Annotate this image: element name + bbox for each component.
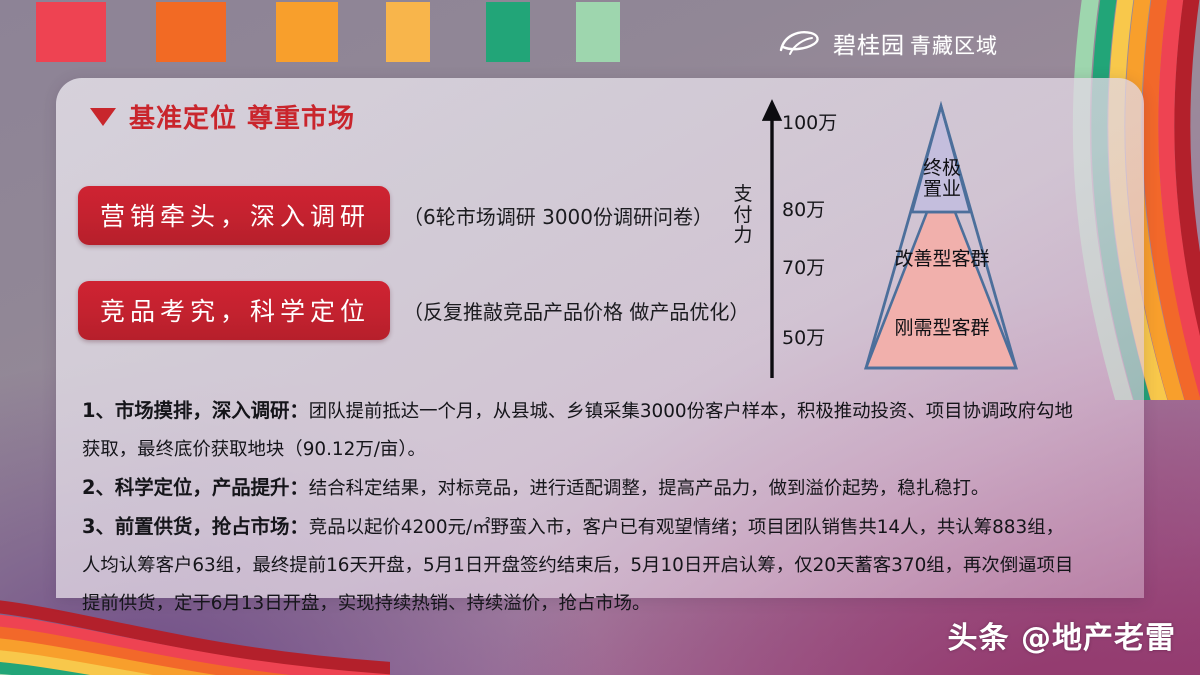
swoosh-logo-icon bbox=[778, 28, 824, 58]
swatch-yellow bbox=[386, 2, 430, 62]
watermark: 头条 @地产老雷 bbox=[948, 613, 1176, 657]
payment-capacity-pyramid-chart: 支付力 100万 80万 70万 50万 终极 置业 改善型客群 刚需型客群 bbox=[716, 96, 1026, 381]
brand-logo: 碧桂园青藏区域 bbox=[778, 26, 998, 60]
down-triangle-icon bbox=[90, 108, 116, 126]
callout-row-1: 营销牵头，深入调研 （6轮市场调研 3000份调研问卷） bbox=[78, 186, 713, 245]
y-tick-80: 80万 bbox=[782, 195, 825, 222]
brand-region: 青藏区域 bbox=[910, 34, 998, 58]
body-paragraph-2: 2、科学定位，产品提升：结合科定结果，对标竞品，进行适配调整，提高产品力，做到溢… bbox=[82, 469, 1082, 508]
page-title: 基准定位 尊重市场 bbox=[90, 98, 355, 135]
pyramid-tier-label-top: 终极 置业 bbox=[902, 158, 982, 201]
callout-pill-2: 竞品考究，科学定位 bbox=[78, 281, 390, 340]
body-paragraph-2-text: 结合科定结果，对标竞品，进行适配调整，提高产品力，做到溢价起势，稳扎稳打。 bbox=[309, 478, 989, 499]
body-text-block: 1、市场摸排，深入调研：团队提前抵达一个月，从县城、乡镇采集3000份客户样本，… bbox=[82, 392, 1082, 623]
brand-logo-text: 碧桂园青藏区域 bbox=[833, 26, 998, 60]
callout-row-2: 竞品考究，科学定位 （反复推敲竞品产品价格 做产品优化） bbox=[78, 281, 749, 340]
swatch-orange bbox=[156, 2, 226, 62]
callout-pill-1: 营销牵头，深入调研 bbox=[78, 186, 390, 245]
slide-canvas: 碧桂园青藏区域 基准定位 尊重市场 营销牵头，深入调研 （6轮市场调研 3000… bbox=[0, 0, 1200, 675]
pyramid-tier-label-middle: 改善型客群 bbox=[874, 249, 1010, 270]
body-paragraph-2-lead: 2、科学定位，产品提升： bbox=[82, 476, 309, 499]
swatch-lightgreen bbox=[576, 2, 620, 62]
pyramid-tier-label-bottom: 刚需型客群 bbox=[874, 318, 1010, 339]
y-tick-50: 50万 bbox=[782, 323, 825, 350]
y-tick-100: 100万 bbox=[782, 108, 837, 135]
page-title-text: 基准定位 尊重市场 bbox=[129, 98, 355, 135]
swatch-amber bbox=[276, 2, 338, 62]
body-paragraph-1: 1、市场摸排，深入调研：团队提前抵达一个月，从县城、乡镇采集3000份客户样本，… bbox=[82, 392, 1082, 469]
swatch-green bbox=[486, 2, 530, 62]
callout-note-2: （反复推敲竞品产品价格 做产品优化） bbox=[403, 296, 749, 325]
y-axis-label: 支付力 bbox=[732, 184, 754, 246]
y-tick-70: 70万 bbox=[782, 253, 825, 280]
body-paragraph-3-lead: 3、前置供货，抢占市场： bbox=[82, 515, 309, 538]
body-paragraph-1-lead: 1、市场摸排，深入调研： bbox=[82, 399, 309, 422]
brand-name: 碧桂园 bbox=[833, 33, 905, 59]
swatch-red bbox=[36, 2, 106, 62]
body-paragraph-3: 3、前置供货，抢占市场：竞品以起价4200元/㎡野蛮入市，客户已有观望情绪；项目… bbox=[82, 508, 1082, 623]
callout-note-1: （6轮市场调研 3000份调研问卷） bbox=[403, 201, 713, 230]
